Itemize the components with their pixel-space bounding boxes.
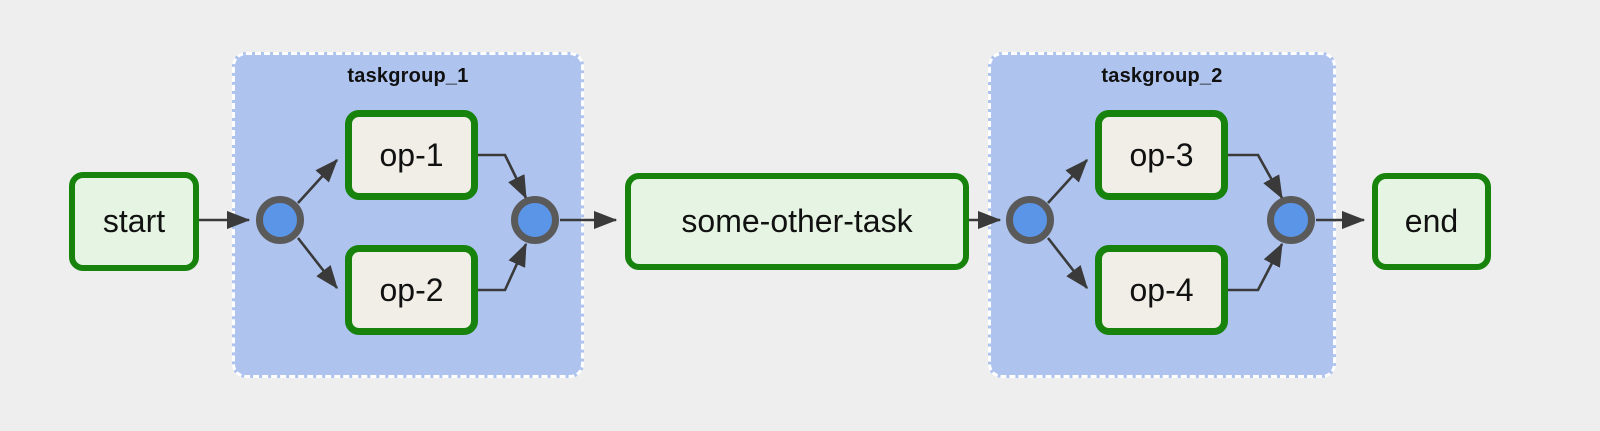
task-node-label: op-2	[379, 272, 443, 309]
task-node-start[interactable]: start	[69, 172, 199, 271]
task-node-label: op-1	[379, 137, 443, 174]
task-node-op-4[interactable]: op-4	[1095, 245, 1228, 335]
task-node-end[interactable]: end	[1372, 173, 1491, 270]
task-node-label: start	[103, 203, 165, 240]
junction-tg1-downstream-join[interactable]	[511, 196, 559, 244]
junction-tg2-downstream-join[interactable]	[1267, 196, 1315, 244]
task-node-label: some-other-task	[681, 203, 912, 240]
task-node-label: end	[1405, 203, 1458, 240]
task-node-some-other-task[interactable]: some-other-task	[625, 173, 969, 270]
taskgroup-label: taskgroup_1	[235, 65, 581, 88]
junction-tg1-upstream-join[interactable]	[256, 196, 304, 244]
task-node-op-2[interactable]: op-2	[345, 245, 478, 335]
dag-graph-canvas: taskgroup_1 taskgroup_2	[0, 0, 1600, 431]
task-node-label: op-3	[1129, 137, 1193, 174]
task-node-op-3[interactable]: op-3	[1095, 110, 1228, 200]
taskgroup-label: taskgroup_2	[991, 65, 1333, 88]
task-node-label: op-4	[1129, 272, 1193, 309]
task-node-op-1[interactable]: op-1	[345, 110, 478, 200]
junction-tg2-upstream-join[interactable]	[1006, 196, 1054, 244]
